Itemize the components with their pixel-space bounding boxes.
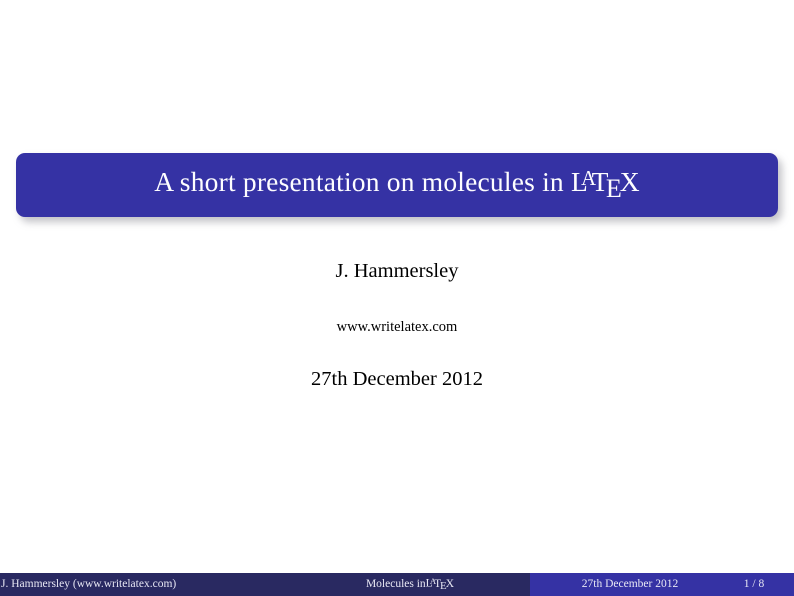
footer-author: J. Hammersley (www.writelatex.com) (0, 573, 290, 596)
footer-title-prefix: Molecules in (366, 579, 426, 591)
author-name: J. Hammersley (0, 261, 794, 282)
title-slide: A short presentation on molecules in LAT… (0, 0, 794, 596)
title-prefix-text: A short presentation on molecules in (154, 166, 571, 197)
footer-page-number: 1 / 8 (730, 573, 794, 596)
title-block: A short presentation on molecules in LAT… (16, 153, 778, 217)
title-block-panel: A short presentation on molecules in LAT… (16, 153, 778, 217)
footer-latex-logo-x: X (446, 578, 454, 590)
latex-logo: LATEX (571, 168, 640, 202)
footer-bar: J. Hammersley (www.writelatex.com) Molec… (0, 573, 794, 596)
footer-date: 27th December 2012 (530, 573, 730, 596)
date-text: 27th December 2012 (0, 369, 794, 390)
page-title: A short presentation on molecules in LAT… (154, 168, 640, 202)
footer-title: Molecules in LATEX (290, 573, 530, 596)
latex-logo-x: X (620, 166, 640, 197)
footer-latex-logo: LATEX (426, 577, 454, 592)
institute-text: www.writelatex.com (0, 320, 794, 335)
